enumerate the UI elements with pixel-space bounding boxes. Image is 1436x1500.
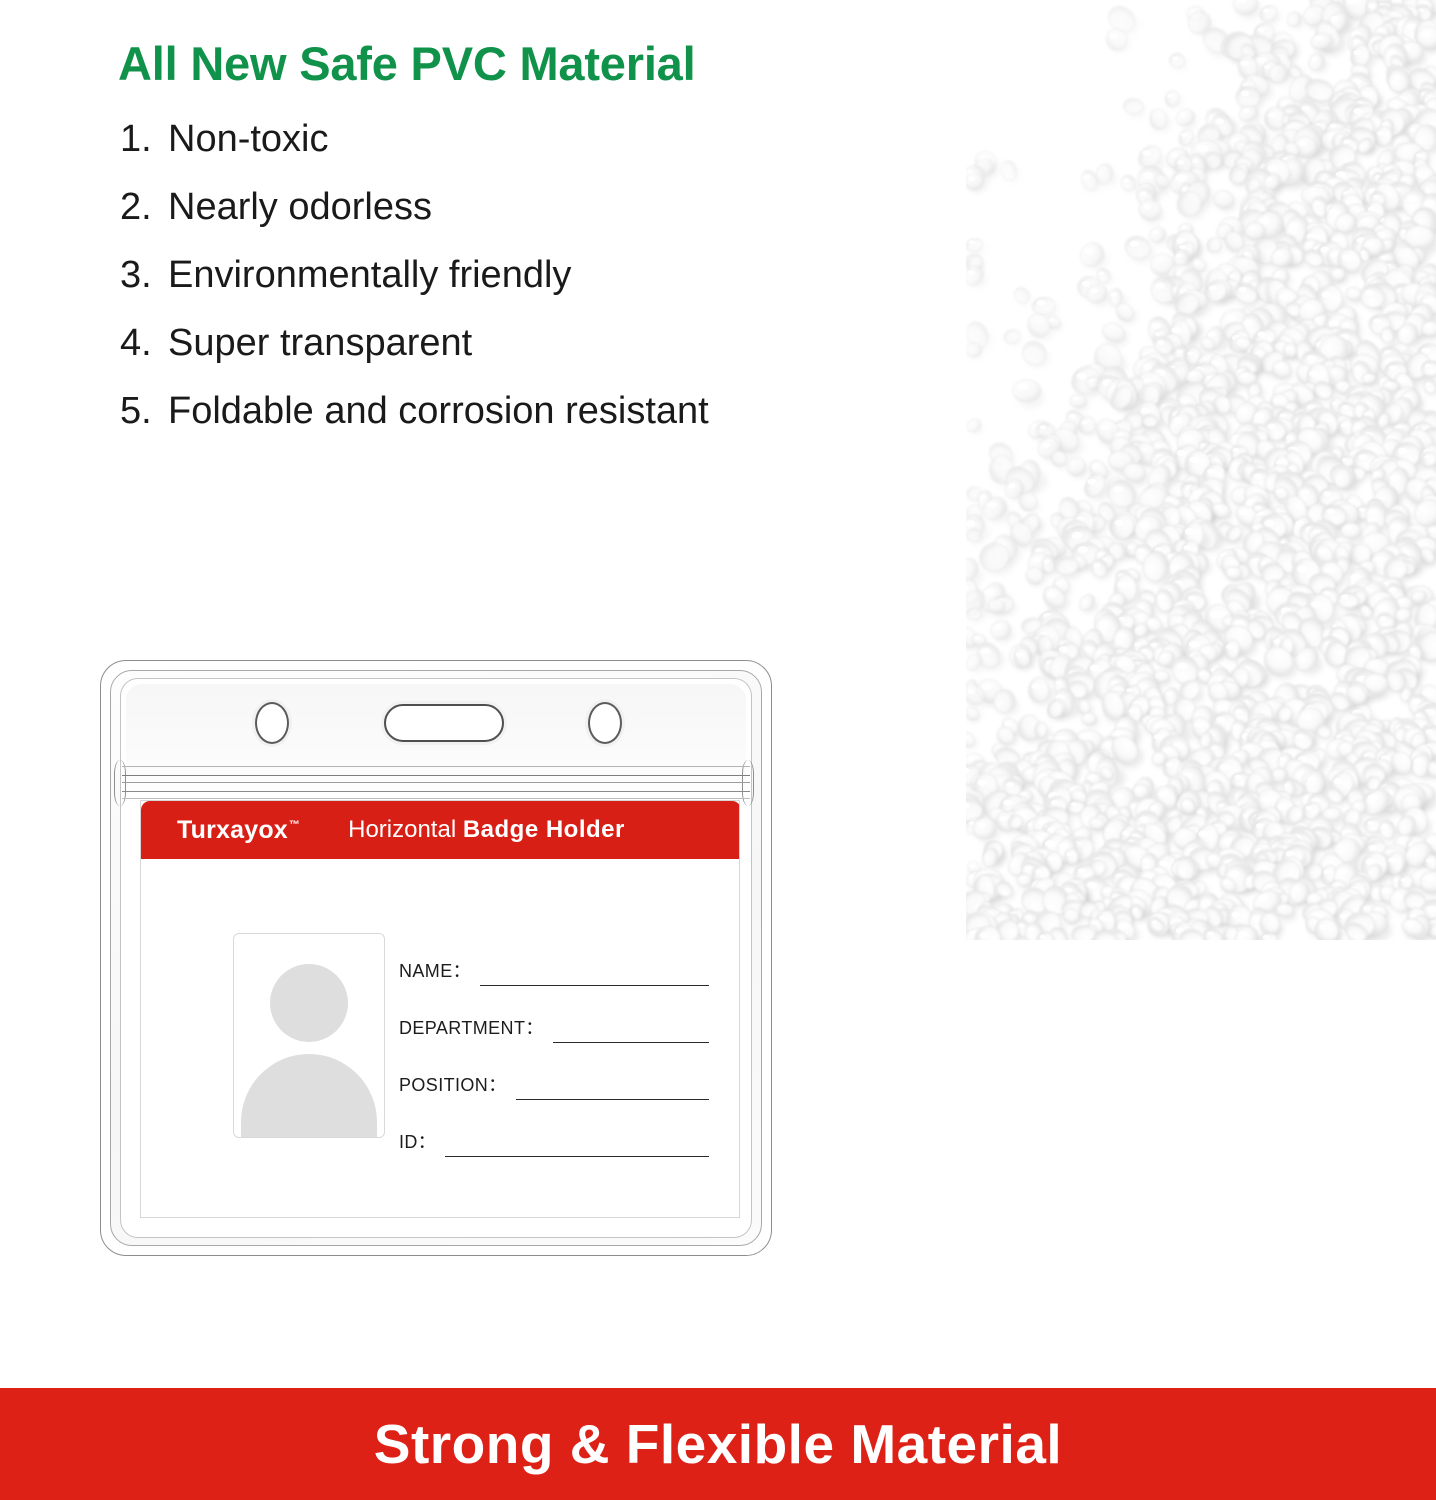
person-body-icon [241, 1054, 377, 1138]
list-item-label: Non-toxic [168, 120, 329, 158]
list-item-label: Environmentally friendly [168, 256, 571, 294]
field-department: DEPARTMENT： [399, 986, 709, 1043]
field-label: DEPARTMENT： [399, 1014, 544, 1043]
trademark-icon: ™ [289, 819, 300, 831]
person-head-icon [270, 964, 348, 1042]
list-item-number: 2. [120, 188, 168, 226]
list-item: 2. Nearly odorless [120, 188, 940, 256]
card-title-bold: Badge Holder [463, 816, 625, 843]
lanyard-slot-icon [384, 704, 504, 742]
card-title-light: Horizontal [348, 816, 456, 843]
list-item-label: Nearly odorless [168, 188, 432, 226]
photo-placeholder [233, 933, 385, 1138]
list-item: 4. Super transparent [120, 324, 940, 392]
zipper-seal [122, 764, 750, 802]
bottom-banner-text: Strong & Flexible Material [374, 1412, 1062, 1476]
card-header-band: Turxayox™ Horizontal Badge Holder [141, 801, 740, 859]
list-item-number: 3. [120, 256, 168, 294]
list-item-label: Super transparent [168, 324, 472, 362]
card-fields: NAME： DEPARTMENT： POSITION： ID： [399, 929, 709, 1157]
punch-hole-left-icon [255, 702, 289, 744]
field-name: NAME： [399, 929, 709, 986]
field-id: ID： [399, 1100, 709, 1157]
brand-name: Turxayox™ [177, 816, 300, 845]
punch-hole-right-icon [588, 702, 622, 744]
feature-list: 1. Non-toxic 2. Nearly odorless 3. Envir… [120, 120, 940, 460]
insert-card: Turxayox™ Horizontal Badge Holder NAME： … [140, 800, 740, 1218]
product-infographic: All New Safe PVC Material 1. Non-toxic 2… [0, 0, 1436, 1500]
pvc-pellets-photo [966, 0, 1436, 940]
field-position: POSITION： [399, 1043, 709, 1100]
bottom-banner: Strong & Flexible Material [0, 1388, 1436, 1500]
list-item: 1. Non-toxic [120, 120, 940, 188]
list-item-number: 4. [120, 324, 168, 362]
badge-holder-product: Turxayox™ Horizontal Badge Holder NAME： … [92, 652, 780, 1264]
field-label: POSITION： [399, 1071, 507, 1100]
list-item: 3. Environmentally friendly [120, 256, 940, 324]
field-write-line [445, 1156, 709, 1157]
field-label: NAME： [399, 957, 471, 986]
field-label: ID： [399, 1128, 436, 1157]
list-item-label: Foldable and corrosion resistant [168, 392, 709, 430]
list-item-number: 5. [120, 392, 168, 430]
card-title: Horizontal Badge Holder [348, 816, 625, 844]
page-title: All New Safe PVC Material [118, 36, 695, 91]
list-item: 5. Foldable and corrosion resistant [120, 392, 940, 460]
list-item-number: 1. [120, 120, 168, 158]
